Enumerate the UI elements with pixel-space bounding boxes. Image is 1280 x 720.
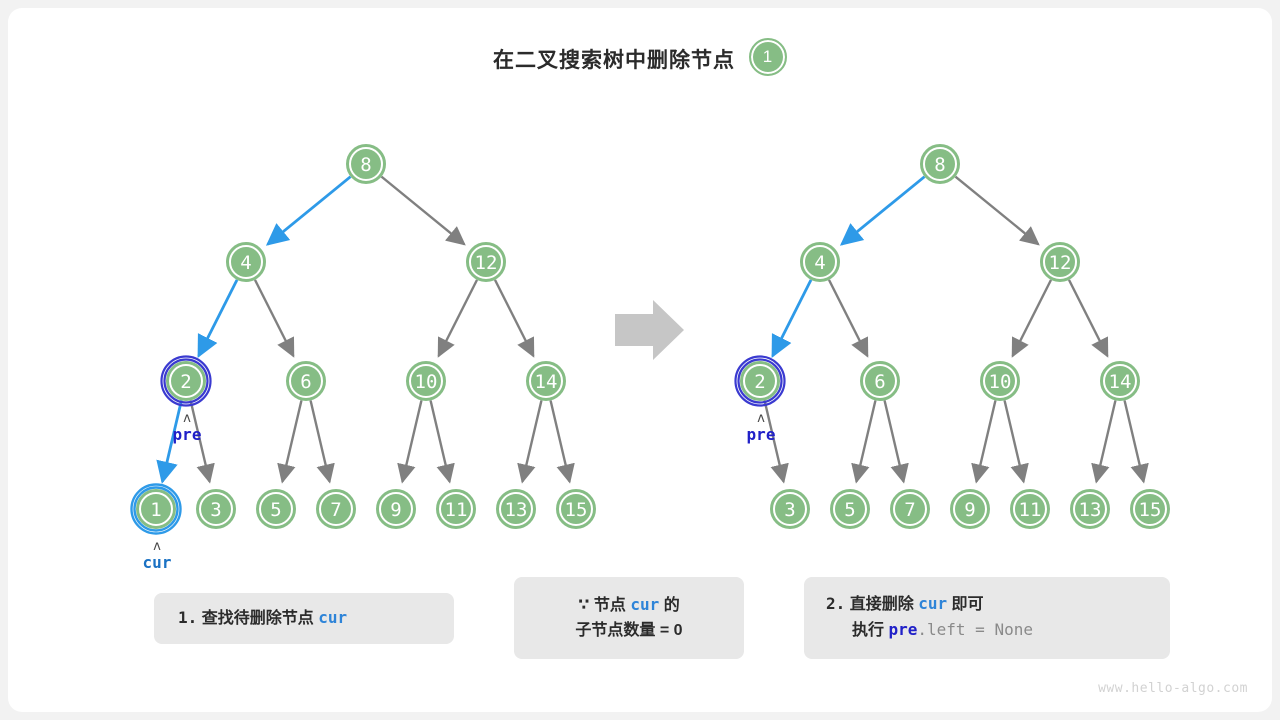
caption-step-2-code-pre: pre: [888, 620, 917, 639]
tree-node-5[interactable]: 5: [831, 490, 869, 528]
tree-edge: [255, 280, 293, 356]
tree-edge: [1005, 400, 1024, 481]
caption-step-2-text: 直接删除: [850, 596, 914, 613]
node-value: 2: [180, 371, 191, 393]
node-value: 2: [754, 371, 765, 393]
tree-node-14[interactable]: 14: [1101, 362, 1139, 400]
caption-step-1-prefix: 1.: [178, 608, 197, 627]
tree-node-11[interactable]: 11: [437, 490, 475, 528]
caption-step-2-prefix: 2.: [826, 594, 845, 613]
tree-edge: [282, 400, 301, 481]
tree-node-14[interactable]: 14: [527, 362, 565, 400]
tree-edge: [268, 177, 351, 245]
node-value: 3: [784, 499, 795, 521]
node-value: 9: [390, 499, 401, 521]
tree-edge: [1125, 400, 1144, 481]
tree-node-15[interactable]: 15: [557, 490, 595, 528]
tree-edge: [199, 280, 237, 356]
tree-node-7[interactable]: 7: [317, 490, 355, 528]
transition-arrow: [615, 300, 684, 360]
node-value: 5: [270, 499, 281, 521]
tree-node-9[interactable]: 9: [951, 490, 989, 528]
node-value: 3: [210, 499, 221, 521]
pointer-label-pre: pre: [747, 425, 776, 444]
caption-step-1-text: 查找待删除节点: [202, 610, 314, 627]
tree-node-6[interactable]: 6: [287, 362, 325, 400]
tree-node-15[interactable]: 15: [1131, 490, 1169, 528]
node-value: 11: [445, 499, 468, 521]
tree-node-3[interactable]: 3: [197, 490, 235, 528]
node-value: 4: [240, 252, 251, 274]
tree-edge: [439, 280, 477, 356]
tree-node-7[interactable]: 7: [891, 490, 929, 528]
diagram-page: 在二叉搜索树中删除节点1 841226101413579111315841226…: [8, 8, 1272, 712]
tree-node-10[interactable]: 10: [407, 362, 445, 400]
tree-edge: [311, 400, 330, 481]
caption-reason-line-1: ∵ 节点 cur 的: [578, 593, 679, 619]
caption-reason-text-a: 节点: [594, 597, 626, 614]
pointer-caret-icon: ʌ: [153, 539, 161, 554]
caption-step-1-code: cur: [318, 608, 347, 627]
caption-reason-code: cur: [630, 595, 659, 614]
caption-step-2: 2. 直接删除 cur 即可 执行 pre.left = None: [804, 577, 1170, 659]
caption-step-2-exec: 执行: [852, 622, 884, 639]
tree-edge: [381, 177, 464, 245]
tree-node-9[interactable]: 9: [377, 490, 415, 528]
node-value: 7: [330, 499, 341, 521]
tree-node-12[interactable]: 12: [1041, 243, 1079, 281]
caption-step-1: 1. 查找待删除节点 cur: [154, 593, 454, 644]
tree-edge: [1096, 400, 1115, 481]
caption-step-2-code-rest: .left = None: [917, 620, 1033, 639]
pointer-label-cur: cur: [143, 553, 172, 572]
pointer-caret-icon: ʌ: [757, 411, 765, 426]
node-value: 15: [565, 499, 588, 521]
node-value: 14: [1109, 371, 1132, 393]
caption-step-2-line-2: 执行 pre.left = None: [826, 618, 1170, 644]
caption-step-2-tail: 即可: [952, 596, 984, 613]
tree-node-4[interactable]: 4: [227, 243, 265, 281]
node-value: 6: [874, 371, 885, 393]
tree-node-11[interactable]: 11: [1011, 490, 1049, 528]
caption-step-2-line-1: 2. 直接删除 cur 即可: [826, 592, 1170, 618]
tree-node-4[interactable]: 4: [801, 243, 839, 281]
tree-edge: [955, 177, 1038, 245]
node-value: 7: [904, 499, 915, 521]
because-symbol: ∵: [578, 597, 589, 614]
node-value: 9: [964, 499, 975, 521]
tree-node-2[interactable]: 2: [736, 357, 785, 406]
tree-node-8[interactable]: 8: [921, 145, 959, 183]
tree-edge: [551, 400, 570, 481]
tree-edge: [522, 400, 541, 481]
node-value: 13: [1079, 499, 1102, 521]
tree-node-5[interactable]: 5: [257, 490, 295, 528]
tree-node-13[interactable]: 13: [1071, 490, 1109, 528]
tree-node-8[interactable]: 8: [347, 145, 385, 183]
node-value: 10: [415, 371, 438, 393]
node-value: 8: [360, 154, 371, 176]
node-value: 14: [535, 371, 558, 393]
tree-edge: [856, 400, 875, 481]
tree-edge: [842, 177, 925, 245]
node-value: 5: [844, 499, 855, 521]
node-value: 15: [1139, 499, 1162, 521]
pointer-caret-icon: ʌ: [183, 411, 191, 426]
node-value: 12: [1049, 252, 1072, 274]
tree-node-2[interactable]: 2: [162, 357, 211, 406]
tree-edge: [431, 400, 450, 481]
tree-edge: [495, 280, 533, 356]
tree-node-3[interactable]: 3: [771, 490, 809, 528]
pointer-label-pre: pre: [173, 425, 202, 444]
caption-reason-line-2: 子节点数量 = 0: [575, 619, 682, 644]
tree-edge: [885, 400, 904, 481]
tree-node-13[interactable]: 13: [497, 490, 535, 528]
tree-edge: [1013, 280, 1051, 356]
node-value: 4: [814, 252, 825, 274]
node-value: 12: [475, 252, 498, 274]
tree-edge: [976, 400, 995, 481]
caption-step-2-code-cur: cur: [918, 594, 947, 613]
tree-node-1[interactable]: 1: [132, 485, 181, 534]
node-value: 13: [505, 499, 528, 521]
tree-node-12[interactable]: 12: [467, 243, 505, 281]
tree-edge: [1069, 280, 1107, 356]
node-value: 8: [934, 154, 945, 176]
node-value: 11: [1019, 499, 1042, 521]
caption-reason-text-b: 的: [664, 597, 680, 614]
caption-step-1-line: 1. 查找待删除节点 cur: [178, 606, 454, 632]
tree-edge: [402, 400, 421, 481]
node-value: 10: [989, 371, 1012, 393]
node-value: 1: [150, 499, 161, 521]
caption-reason: ∵ 节点 cur 的 子节点数量 = 0: [514, 577, 744, 659]
tree-node-10[interactable]: 10: [981, 362, 1019, 400]
tree-edge: [829, 280, 867, 356]
tree-edge: [773, 280, 811, 356]
node-value: 6: [300, 371, 311, 393]
tree-node-6[interactable]: 6: [861, 362, 899, 400]
watermark: www.hello-algo.com: [1098, 681, 1248, 696]
